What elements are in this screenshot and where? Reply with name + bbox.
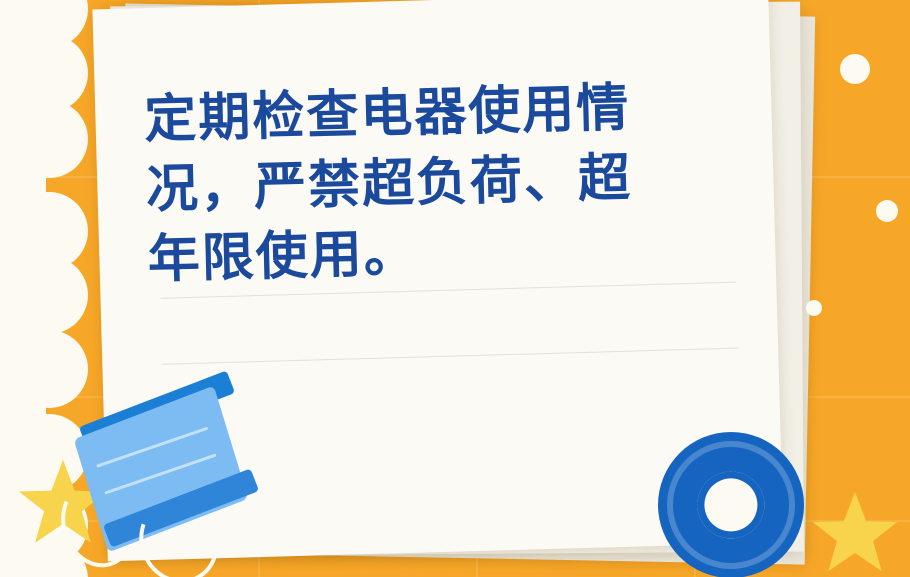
scallop-blob bbox=[10, 100, 88, 178]
cream-dot bbox=[840, 54, 870, 84]
cream-dot bbox=[876, 200, 898, 222]
blue-tape-ring bbox=[658, 432, 804, 577]
ring-hole bbox=[697, 471, 764, 538]
cream-dot bbox=[806, 300, 822, 316]
poster-canvas: 定期检查电器使用情 况，严禁超负荷、超 年限使用。 bbox=[0, 0, 910, 577]
face-mask-illustration bbox=[56, 388, 286, 577]
cream-dot bbox=[12, 178, 38, 204]
page-title: 定期检查电器使用情 况，严禁超负荷、超 年限使用。 bbox=[144, 71, 729, 295]
scallop-blob bbox=[10, 256, 88, 334]
paper-rule-line bbox=[162, 348, 738, 365]
